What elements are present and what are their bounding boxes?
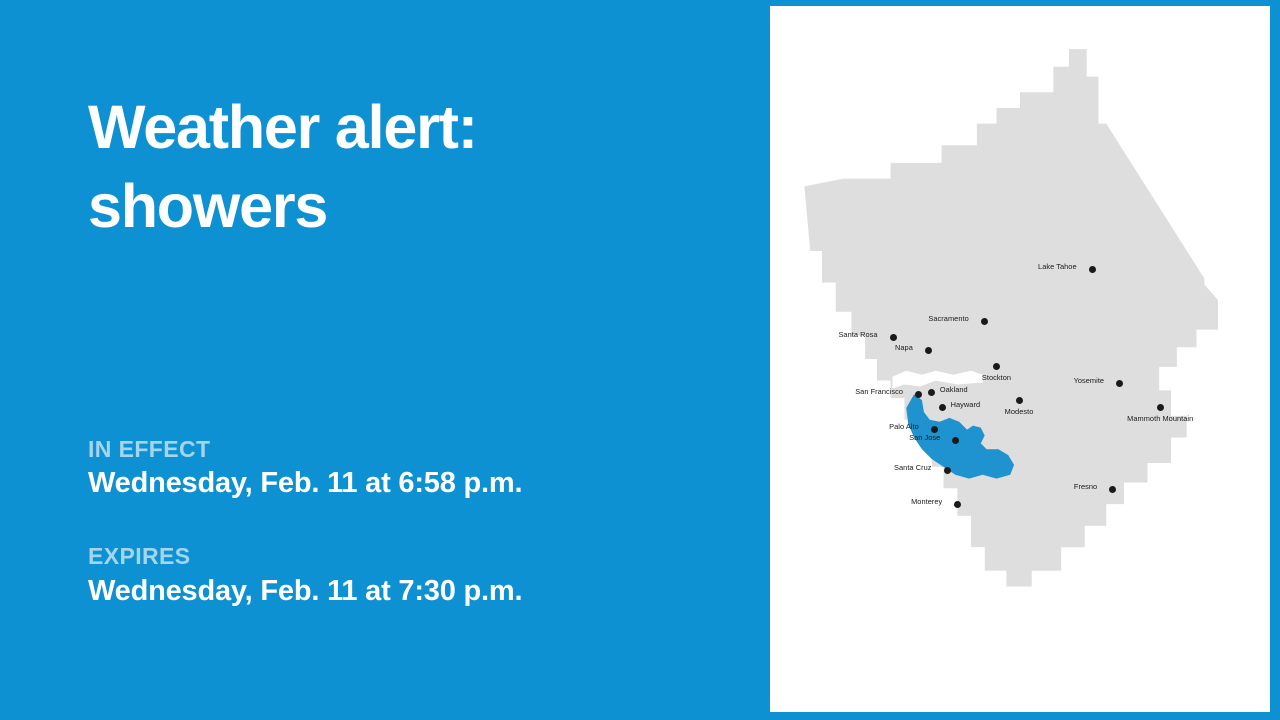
city-dot-icon [944, 467, 951, 474]
expires-block: EXPIRES Wednesday, Feb. 11 at 7:30 p.m. [88, 541, 748, 610]
title-line-1: Weather alert: [88, 88, 728, 167]
city-dot-icon [981, 318, 988, 325]
city-dot-icon [1016, 397, 1023, 404]
city-label: Monterey [911, 497, 942, 506]
city-label: Napa [895, 343, 913, 352]
city-label: Hayward [951, 400, 981, 409]
alert-text-panel: Weather alert: showers IN EFFECT Wednesd… [0, 0, 768, 720]
city-label: San Jose [909, 433, 940, 442]
city-dot-icon [890, 334, 897, 341]
city-label: Stockton [982, 373, 1011, 382]
in-effect-value: Wednesday, Feb. 11 at 6:58 p.m. [88, 464, 748, 503]
city-dot-icon [1116, 380, 1123, 387]
city-label: Mammoth Mountain [1127, 414, 1193, 423]
northern-california-map [770, 6, 1270, 712]
weather-alert-graphic: Weather alert: showers IN EFFECT Wednesd… [0, 0, 1280, 720]
city-label: Oakland [940, 385, 968, 394]
city-dot-icon [931, 426, 938, 433]
alert-timing: IN EFFECT Wednesday, Feb. 11 at 6:58 p.m… [88, 434, 748, 610]
expires-value: Wednesday, Feb. 11 at 7:30 p.m. [88, 572, 748, 611]
city-label: Lake Tahoe [1038, 262, 1077, 271]
city-label: Modesto [1005, 407, 1034, 416]
city-dot-icon [1157, 404, 1164, 411]
in-effect-label: IN EFFECT [88, 434, 748, 464]
city-label: Santa Cruz [894, 463, 931, 472]
expires-label: EXPIRES [88, 541, 748, 571]
in-effect-block: IN EFFECT Wednesday, Feb. 11 at 6:58 p.m… [88, 434, 748, 503]
city-label: San Francisco [855, 387, 903, 396]
page-title: Weather alert: showers [88, 88, 728, 247]
map-panel: Lake TahoeSacramentoSanta RosaNapaStockt… [768, 0, 1280, 720]
title-line-2: showers [88, 167, 728, 246]
city-label: Yosemite [1074, 376, 1105, 385]
city-dot-icon [1089, 266, 1096, 273]
city-dot-icon [993, 363, 1000, 370]
map-sheet: Lake TahoeSacramentoSanta RosaNapaStockt… [770, 6, 1270, 712]
city-label: Fresno [1074, 482, 1097, 491]
city-label: Santa Rosa [838, 330, 877, 339]
city-dot-icon [939, 404, 946, 411]
city-label: Palo Alto [889, 422, 919, 431]
city-label: Sacramento [928, 314, 968, 323]
